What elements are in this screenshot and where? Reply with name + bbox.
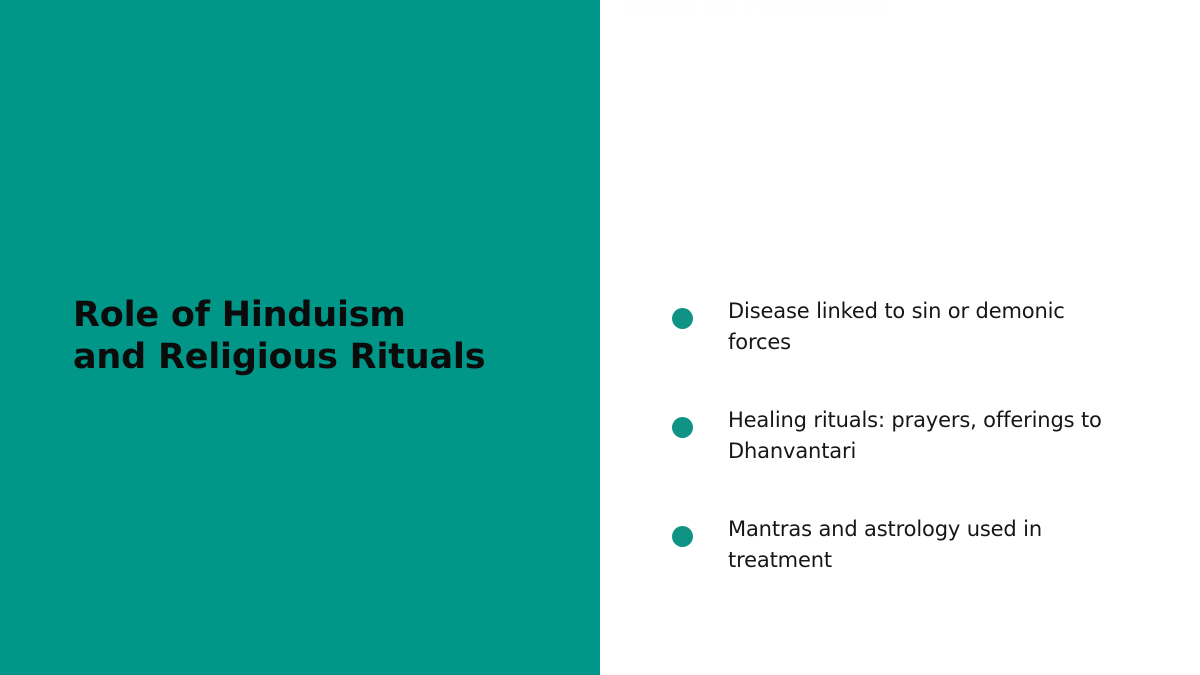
list-item: Healing rituals: prayers, offerings to D… bbox=[600, 405, 1200, 467]
list-item-label: Healing rituals: prayers, offerings to D… bbox=[728, 405, 1120, 467]
bullet-list: Disease linked to sin or demonic forces … bbox=[600, 296, 1200, 576]
bullet-dot-icon bbox=[672, 417, 693, 438]
presentation-slide: Role of Hinduism and Religious Rituals R… bbox=[0, 0, 1200, 675]
bullet-dot-icon bbox=[672, 308, 693, 329]
list-item-label: Disease linked to sin or demonic forces bbox=[728, 296, 1120, 358]
bullet-dot-icon bbox=[672, 526, 693, 547]
ghost-heading: Role of Hinduism bbox=[628, 0, 887, 21]
list-item-label: Mantras and astrology used in treatment bbox=[728, 514, 1120, 576]
list-item: Disease linked to sin or demonic forces bbox=[600, 296, 1200, 358]
title-panel: Role of Hinduism and Religious Rituals bbox=[0, 0, 600, 675]
list-item: Mantras and astrology used in treatment bbox=[600, 514, 1200, 576]
content-panel: Role of Hinduism Disease linked to sin o… bbox=[600, 0, 1200, 675]
page-title: Role of Hinduism and Religious Rituals bbox=[73, 294, 553, 378]
